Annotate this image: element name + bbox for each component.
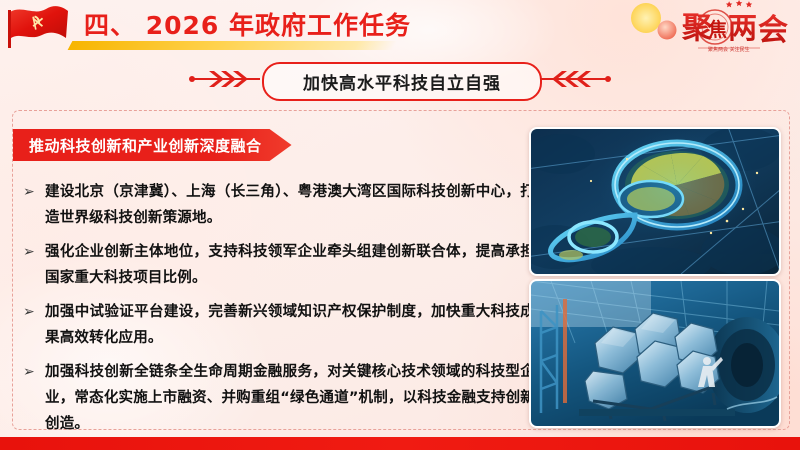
bullet-arrow-icon: ➢ — [23, 359, 45, 385]
triple-chevron-right-icon — [188, 68, 262, 95]
svg-text:焦: 焦 — [707, 18, 727, 41]
subtitle-text: 加快高水平科技自立自强 — [303, 69, 501, 94]
bullet-arrow-icon: ➢ — [23, 179, 45, 205]
title-underline-bar — [68, 41, 398, 50]
list-item-text: 加强中试验证平台建设，完善新兴领域知识产权保护制度，加快重大科技成果高效转化应用… — [45, 299, 535, 351]
svg-text:聚焦两会 关注民生: 聚焦两会 关注民生 — [708, 46, 750, 53]
bullet-list: ➢ 建设北京（京津冀）、上海（长三角）、粤港澳大湾区国际科技创新中心，打造世界级… — [23, 179, 535, 445]
list-item: ➢ 加强科技创新全链条全生命周期金融服务，对关键核心技术领域的科技型企业，常态化… — [23, 359, 535, 437]
content-frame: 推动科技创新和产业创新深度融合 ➢ 建设北京（京津冀）、上海（长三角）、粤港澳大… — [12, 110, 790, 430]
two-sessions-logo: 聚 焦 两 会 聚焦两会 关注民生 — [620, 0, 796, 56]
svg-text:会: 会 — [758, 13, 788, 48]
list-item: ➢ 强化企业创新主体地位，支持科技领军企业牵头组建创新联合体，提高承担国家重大科… — [23, 239, 535, 291]
triple-chevron-left-icon — [538, 68, 612, 95]
bullet-arrow-icon: ➢ — [23, 239, 45, 265]
subtitle-row: 加快高水平科技自立自强 — [0, 60, 800, 100]
footer-bar — [0, 437, 800, 450]
svg-text:两: 两 — [728, 11, 757, 45]
aerial-synchrotron-facility-night-photo — [529, 127, 781, 276]
party-flag-hammer-sickle-icon — [8, 4, 70, 50]
list-item: ➢ 建设北京（京津冀）、上海（长三角）、粤港澳大湾区国际科技创新中心，打造世界级… — [23, 179, 535, 231]
segmented-hexagonal-mirror-telescope-photo — [529, 279, 781, 428]
list-item-text: 强化企业创新主体地位，支持科技领军企业牵头组建创新联合体，提高承担国家重大科技项… — [45, 239, 535, 291]
list-item-text: 加强科技创新全链条全生命周期金融服务，对关键核心技术领域的科技型企业，常态化实施… — [45, 359, 535, 437]
section-banner-label: 推动科技创新和产业创新深度融合 — [29, 135, 262, 156]
section-banner: 推动科技创新和产业创新深度融合 — [13, 129, 292, 161]
subtitle-pill: 加快高水平科技自立自强 — [262, 62, 542, 101]
list-item-text: 建设北京（京津冀）、上海（长三角）、粤港澳大湾区国际科技创新中心，打造世界级科技… — [45, 179, 535, 231]
slide-header: 四、 2026 年政府工作任务 — [0, 0, 800, 58]
list-item: ➢ 加强中试验证平台建设，完善新兴领域知识产权保护制度，加快重大科技成果高效转化… — [23, 299, 535, 351]
page-title: 四、 2026 年政府工作任务 — [84, 6, 411, 42]
bullet-arrow-icon: ➢ — [23, 299, 45, 325]
slide-root: 四、 2026 年政府工作任务 — [0, 0, 800, 450]
